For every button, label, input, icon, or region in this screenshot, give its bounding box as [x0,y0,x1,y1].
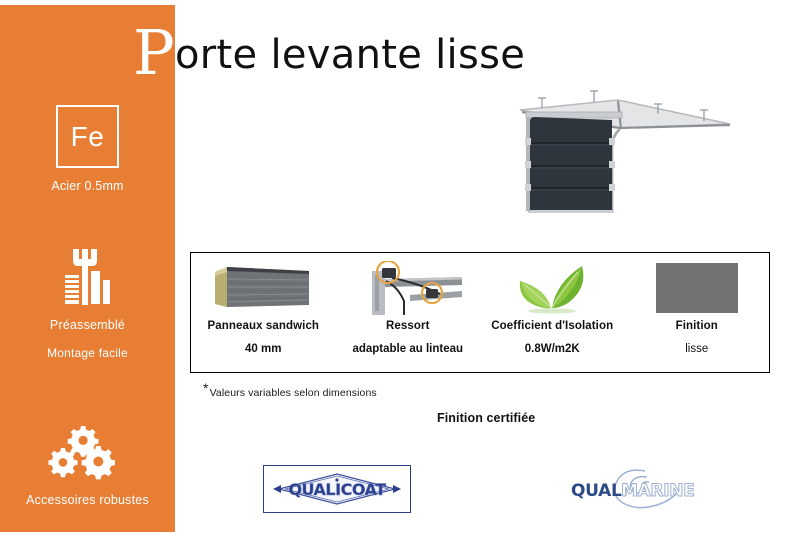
sidebar-item-preassembled-label: Préassemblé [0,316,175,335]
feature-title: Coefficient d'Isolation [491,320,613,332]
qualimarine-logo: QUALI MARINE QUALI MARINE [563,463,713,515]
sandwich-panel-photo [209,260,317,316]
feature-value: adaptable au linteau [352,343,463,355]
sidebar-item-steel: Fe Acier 0.5mm [0,105,175,196]
datasheet-page: Fe Acier 0.5mm [0,0,800,534]
feature-ressort: Ressort adaptable au linteau [336,253,481,372]
page-title-full: Porte levante lisse [0,0,1,1]
sidebar-item-accessories: Accessoires robustes [0,420,175,510]
feature-coefficient-isolation: Coefficient d'Isolation 0.8W/m2K [480,253,625,372]
feature-value: 0.8W/m2K [525,343,580,355]
fe-symbol: Fe [71,123,105,151]
svg-text:MARINE: MARINE [621,481,695,501]
gears-icon [0,420,175,482]
feature-title: Panneaux sandwich [207,320,319,332]
sidebar-item-accessories-label: Accessoires robustes [0,491,175,510]
page-title-rest: orte levante lisse [175,32,525,78]
qualimarine-logo-text-light: MARINE [713,463,714,464]
qualimarine-logo-text-bold: QUALI [713,463,714,464]
fe-square-icon: Fe [56,105,119,168]
feature-value: lisse [685,343,708,355]
green-leaves-icon [506,260,598,316]
svg-text:QUALI: QUALI [571,481,628,501]
page-title-initial: P [133,16,175,89]
finish-swatch [656,260,738,316]
footnote-text: Valeurs variables selon dimensions [210,387,377,399]
certification-heading: Finition certifiée [437,411,535,425]
sectional-garage-door-photo [508,88,740,220]
page-title: Porte levante lisse [133,28,525,78]
footnote: *Valeurs variables selon dimensions [203,380,377,399]
sidebar-item-steel-label: Acier 0.5mm [0,177,175,196]
svg-text:QUALICOAT: QUALICOAT [288,480,386,499]
feature-title: Ressort [386,320,430,332]
qualicoat-logo: QUALICOAT QUALICOAT [263,465,411,513]
sidebar-item-preassembled: Préassemblé Montage facile [0,245,175,363]
wrench-panels-icon [0,245,175,307]
feature-panneaux-sandwich: Panneaux sandwich 40 mm [191,253,336,372]
spring-mechanism-photo [352,260,464,316]
feature-box: Panneaux sandwich 40 mm [190,252,770,373]
feature-finition: Finition lisse [625,253,770,372]
finish-color-swatch [656,263,738,313]
sidebar-item-preassembled-label2: Montage facile [0,344,175,363]
footnote-marker: * [203,380,209,396]
feature-title: Finition [676,320,718,332]
feature-value: 40 mm [245,343,281,355]
